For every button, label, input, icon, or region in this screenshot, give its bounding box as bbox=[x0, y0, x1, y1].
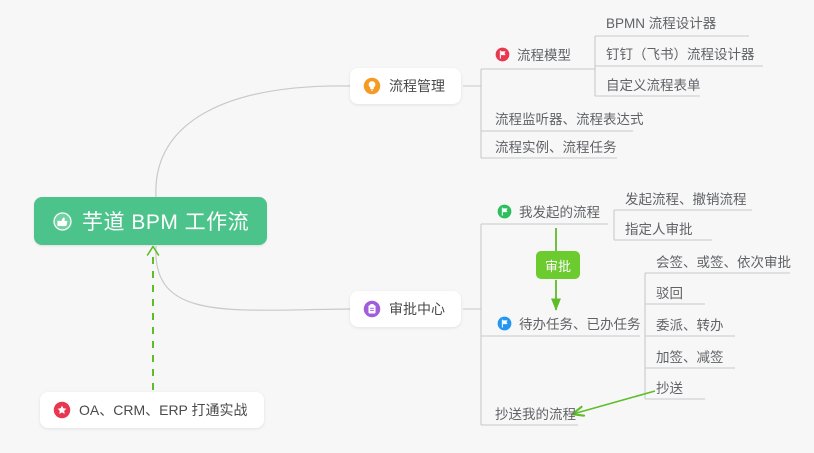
wire-root-to-approval-center bbox=[156, 246, 350, 310]
node-label: 流程监听器、流程表达式 bbox=[495, 108, 644, 128]
approval-tag[interactable]: 审批 bbox=[536, 251, 580, 279]
node-label: 我发起的流程 bbox=[519, 201, 600, 221]
node-my-initiated-process[interactable]: 我发起的流程 bbox=[491, 198, 610, 224]
thumbs-up-icon bbox=[52, 211, 73, 232]
clipboard-icon bbox=[363, 300, 381, 318]
node-cc-to-me-process[interactable]: 抄送我的流程 bbox=[487, 400, 586, 426]
node-label: 流程模型 bbox=[517, 44, 571, 64]
leaf-custom-process-form[interactable]: 自定义流程表单 bbox=[598, 71, 711, 97]
root-label: 芋道 BPM 工作流 bbox=[82, 206, 249, 236]
mindmap-canvas: 芋道 BPM 工作流 流程管理 流程模型 BPMN 流程设计器 钉钉（飞书）流程… bbox=[0, 0, 814, 453]
wire-root-to-process-management bbox=[156, 86, 350, 197]
leaf-label: 发起流程、撤销流程 bbox=[625, 188, 747, 208]
flag-icon bbox=[495, 47, 510, 62]
leaf-label: 抄送 bbox=[656, 377, 683, 397]
leaf-add-remove-sign[interactable]: 加签、减签 bbox=[648, 343, 734, 369]
star-icon bbox=[53, 401, 71, 419]
leaf-dingtalk-feishu-designer[interactable]: 钉钉（飞书）流程设计器 bbox=[598, 40, 765, 66]
leaf-carbon-copy[interactable]: 抄送 bbox=[648, 374, 693, 400]
leaf-reject[interactable]: 驳回 bbox=[648, 279, 693, 305]
leaf-countersign-orsign-sequential[interactable]: 会签、或签、依次审批 bbox=[648, 248, 801, 274]
flag-icon bbox=[497, 316, 512, 331]
leaf-bpmn-designer[interactable]: BPMN 流程设计器 bbox=[598, 9, 726, 35]
approval-tag-label: 审批 bbox=[545, 256, 571, 275]
leaf-label: 自定义流程表单 bbox=[606, 74, 701, 94]
leaf-label: 加签、减签 bbox=[656, 346, 724, 366]
node-process-listener-expression[interactable]: 流程监听器、流程表达式 bbox=[487, 105, 654, 131]
arrow-integration-head bbox=[148, 247, 159, 256]
branch-label: 流程管理 bbox=[389, 76, 445, 96]
node-label: 流程实例、流程任务 bbox=[495, 136, 617, 156]
leaf-label: 驳回 bbox=[656, 282, 683, 302]
leaf-label: 委派、转办 bbox=[656, 314, 724, 334]
node-process-instance-task[interactable]: 流程实例、流程任务 bbox=[487, 133, 627, 159]
leaf-label: 钉钉（飞书）流程设计器 bbox=[606, 43, 755, 63]
leaf-label: 指定人审批 bbox=[625, 218, 693, 238]
leaf-label: BPMN 流程设计器 bbox=[606, 12, 716, 32]
node-label: 抄送我的流程 bbox=[495, 403, 576, 423]
root-node[interactable]: 芋道 BPM 工作流 bbox=[34, 197, 267, 245]
lightbulb-icon bbox=[363, 77, 381, 95]
leaf-label: 会签、或签、依次审批 bbox=[656, 251, 791, 271]
leaf-delegate-transfer[interactable]: 委派、转办 bbox=[648, 311, 734, 337]
branch-label: 审批中心 bbox=[389, 299, 445, 319]
branch-approval-center[interactable]: 审批中心 bbox=[350, 291, 461, 327]
node-process-model[interactable]: 流程模型 bbox=[489, 41, 581, 67]
flag-icon bbox=[497, 204, 512, 219]
integration-card-label: OA、CRM、ERP 打通实战 bbox=[79, 400, 248, 420]
branch-process-management[interactable]: 流程管理 bbox=[350, 68, 461, 104]
leaf-assignee-approval[interactable]: 指定人审批 bbox=[617, 215, 703, 241]
node-label: 待办任务、已办任务 bbox=[519, 313, 641, 333]
node-todo-done-tasks[interactable]: 待办任务、已办任务 bbox=[491, 310, 651, 336]
integration-card[interactable]: OA、CRM、ERP 打通实战 bbox=[40, 392, 264, 428]
leaf-start-cancel-process[interactable]: 发起流程、撤销流程 bbox=[617, 185, 757, 211]
